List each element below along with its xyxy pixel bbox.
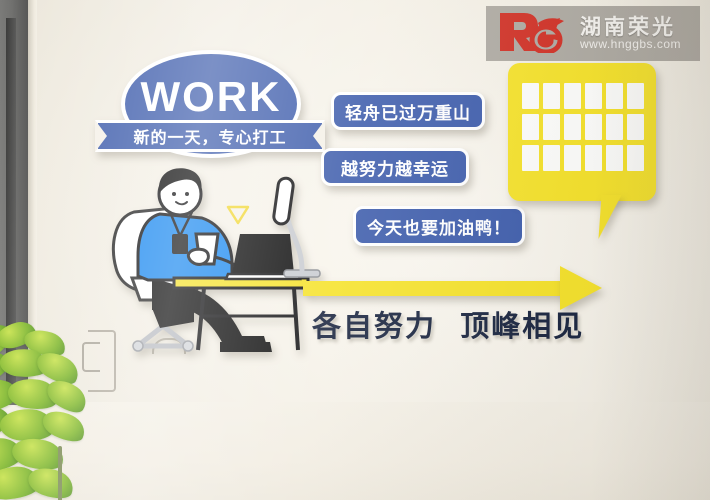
brand-name: 湖南荣光 xyxy=(580,16,681,38)
poster-photo: WORK 新的一天，专心打工 xyxy=(0,0,710,500)
banner-notch-right xyxy=(313,120,325,152)
triangle-decoration-icon xyxy=(215,188,237,205)
calendar-cell xyxy=(627,83,644,109)
calendar-cell xyxy=(564,83,581,109)
slogan-pill-3: 今天也要加油鸭！ xyxy=(353,206,525,246)
calendar-speech-bubble xyxy=(508,63,656,201)
calendar-cell xyxy=(606,145,623,171)
brand-url: www.hnggbs.com xyxy=(580,38,681,51)
calendar-cell xyxy=(543,83,560,109)
calendar-cell xyxy=(543,145,560,171)
calendar-grid xyxy=(522,83,644,171)
calendar-cell xyxy=(564,114,581,140)
calendar-cell xyxy=(627,145,644,171)
work-title: WORK xyxy=(141,76,282,118)
calendar-cell xyxy=(627,114,644,140)
work-banner-label: 新的一天，专心打工 xyxy=(133,124,286,148)
work-headline-group: WORK 新的一天，专心打工 xyxy=(95,50,325,168)
calendar-cell xyxy=(564,145,581,171)
slogan-pill-1: 轻舟已过万重山 xyxy=(331,92,485,130)
calendar-cell xyxy=(585,145,602,171)
wall-bracket-small-icon xyxy=(82,342,100,372)
calendar-cell xyxy=(585,83,602,109)
banner-notch-left xyxy=(95,120,107,152)
speech-bubble-tail xyxy=(598,195,637,239)
calendar-cell xyxy=(585,114,602,140)
watermark-logo-band: 湖南荣光 www.hnggbs.com xyxy=(486,6,700,61)
bottom-slogan: 各自努力 顶峰相见 xyxy=(312,303,584,345)
plant-stem xyxy=(58,446,62,500)
calendar-cell xyxy=(522,83,539,109)
calendar-cell xyxy=(522,114,539,140)
work-banner: 新的一天，专心打工 xyxy=(95,120,325,152)
calendar-cell xyxy=(606,83,623,109)
rg-logo-icon xyxy=(494,9,572,58)
calendar-cell xyxy=(543,114,560,140)
calendar-cell xyxy=(522,145,539,171)
watermark-text: 湖南荣光 www.hnggbs.com xyxy=(580,16,681,51)
slogan-pill-2: 越努力越幸运 xyxy=(321,148,469,186)
arrow-shaft xyxy=(303,281,568,296)
calendar-cell xyxy=(606,114,623,140)
